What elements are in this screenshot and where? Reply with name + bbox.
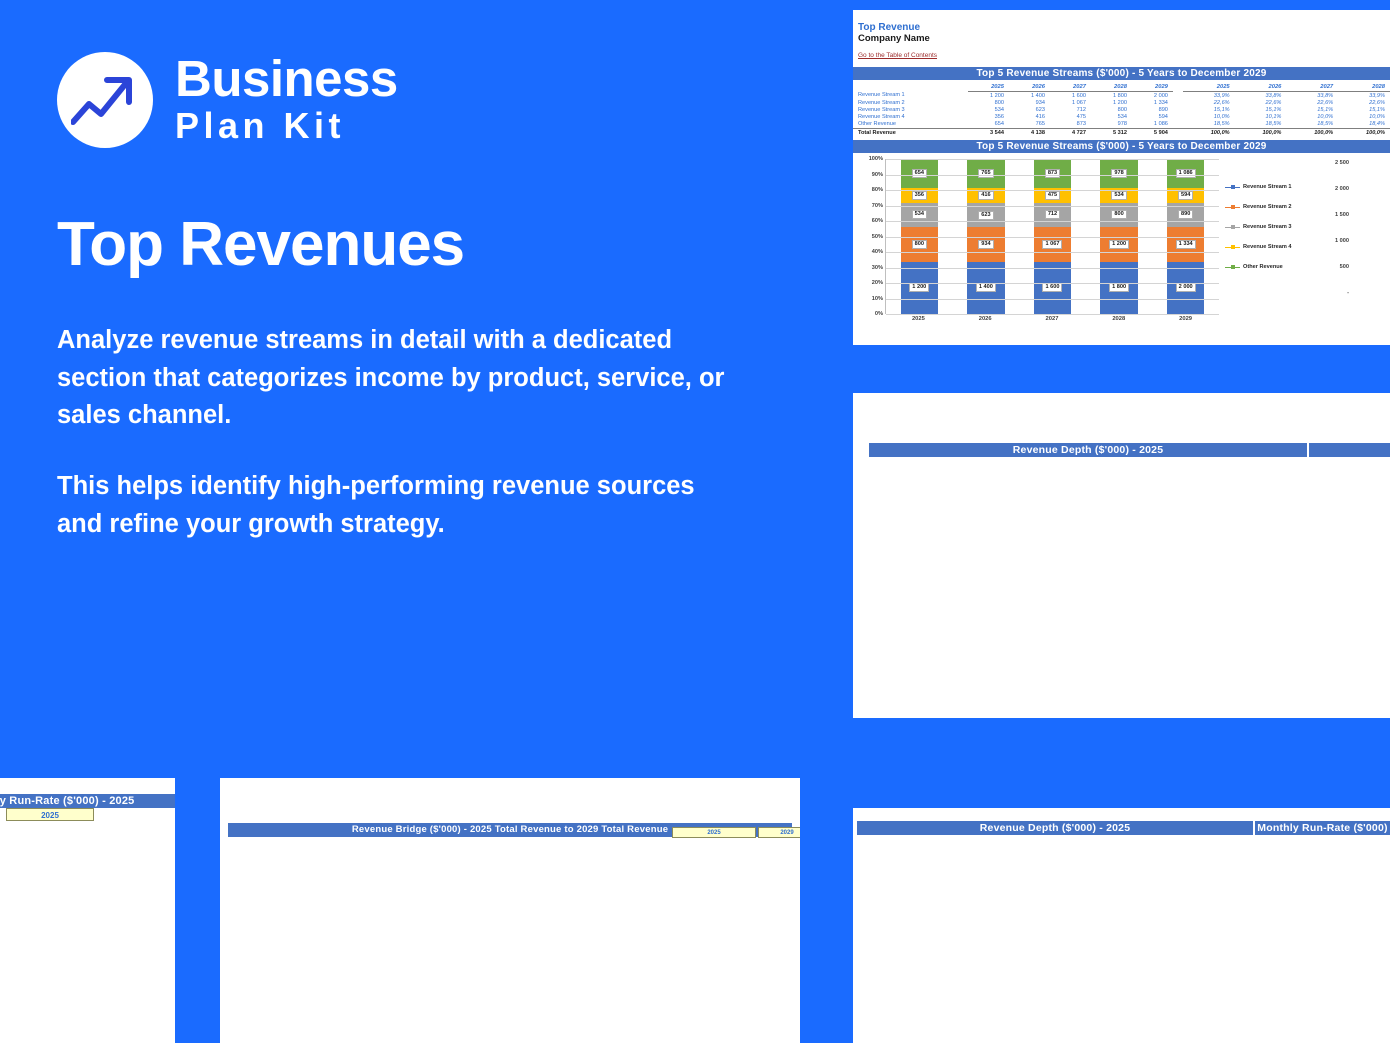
col-year-2026: 2026 <box>1009 83 1050 92</box>
total-value: 3 544 <box>968 128 1009 136</box>
cell-value: 534 <box>1091 114 1132 121</box>
legend-marker-icon <box>1225 184 1240 191</box>
cell-value: 475 <box>1050 114 1091 121</box>
cell-value: 1 200 <box>1091 99 1132 106</box>
total-label: Total Revenue <box>853 128 968 136</box>
gridline <box>886 206 1219 207</box>
bar-segment: 623 <box>967 203 1004 226</box>
promo-paragraph-1: Analyze revenue streams in detail with a… <box>57 322 737 435</box>
gridline <box>886 283 1219 284</box>
cell-pct: 18,5% <box>1286 121 1338 129</box>
growth-arrow-icon <box>57 52 153 148</box>
bar-segment: 1 067 <box>1034 227 1071 262</box>
bar-segment: 934 <box>967 227 1004 262</box>
cell-value: 594 <box>1132 114 1173 121</box>
cell-pct: 15,1% <box>1235 106 1287 113</box>
line-chart-legend: Revenue Stream 1Revenue Stream 2Revenue … <box>1225 177 1292 277</box>
total-pct: 100,0% <box>1338 128 1390 136</box>
cell-value: 1 600 <box>1050 92 1091 100</box>
data-label: 978 <box>1111 169 1126 178</box>
legend-item: Other Revenue <box>1225 257 1292 277</box>
gridline <box>886 159 1219 160</box>
stacked-y-axis: 0%10%20%30%40%50%60%70%80%90%100% <box>855 159 883 314</box>
col-pct-2028: 2028 <box>1338 83 1390 92</box>
bar-segment: 1 600 <box>1034 262 1071 314</box>
gridline <box>886 175 1219 176</box>
gridline <box>886 314 1219 315</box>
x-tick-label: 2027 <box>1019 316 1086 322</box>
cell-value: 890 <box>1132 106 1173 113</box>
cell-pct: 18,4% <box>1338 121 1390 129</box>
x-tick-label: 2026 <box>952 316 1019 322</box>
cell-pct: 18,5% <box>1183 121 1235 129</box>
data-label: 594 <box>1178 191 1193 200</box>
runrate-banner: Monthly Run-Rate ($'000) - 2025 <box>0 794 175 808</box>
chart-banner: Top 5 Revenue Streams ($'000) - 5 Years … <box>853 140 1390 153</box>
y-tick-label: 0% <box>875 311 883 317</box>
cell-value: 1 067 <box>1050 99 1091 106</box>
data-label: 873 <box>1045 169 1060 178</box>
data-label: 1 334 <box>1176 240 1196 249</box>
row-label: Other Revenue <box>853 121 968 129</box>
y-tick-label: 100% <box>869 156 883 162</box>
y-tick-label: 10% <box>872 296 883 302</box>
cell-value: 1 800 <box>1091 92 1132 100</box>
data-label: 1 086 <box>1176 169 1196 178</box>
cell-pct: 22,6% <box>1286 99 1338 106</box>
total-pct: 100,0% <box>1286 128 1338 136</box>
cell-value: 800 <box>1091 106 1132 113</box>
total-value: 4 727 <box>1050 128 1091 136</box>
table-total-row: Total Revenue 3 544 4 138 4 727 5 312 5 … <box>853 128 1390 136</box>
cell-value: 356 <box>968 114 1009 121</box>
cell-pct: 22,6% <box>1235 99 1287 106</box>
bar-segment: 890 <box>1167 203 1204 226</box>
bar-segment: 1 086 <box>1167 159 1204 188</box>
legend-item: Revenue Stream 4 <box>1225 237 1292 257</box>
bar-segment: 654 <box>901 159 938 188</box>
gridline <box>886 237 1219 238</box>
revenue-streams-table: 2025 2026 2027 2028 2029 2025 2026 2027 … <box>853 83 1390 136</box>
data-label: 1 067 <box>1042 240 1062 249</box>
stacked-plot-area: 6543565348001 2007654166239341 400873475… <box>885 159 1219 314</box>
data-label: 416 <box>978 191 993 200</box>
col-year-2027: 2027 <box>1050 83 1091 92</box>
col-year-2025: 2025 <box>968 83 1009 92</box>
legend-marker-icon <box>1225 264 1240 271</box>
legend-label: Revenue Stream 1 <box>1243 184 1292 190</box>
data-label: 1 200 <box>1109 240 1129 249</box>
brand-logo: Business Plan Kit <box>57 52 797 148</box>
y-tick-label: 70% <box>872 203 883 209</box>
col-pct-2026: 2026 <box>1235 83 1287 92</box>
bar-segment: 1 200 <box>901 262 938 314</box>
cell-value: 712 <box>1050 106 1091 113</box>
total-pct: 100,0% <box>1235 128 1287 136</box>
gridline <box>886 252 1219 253</box>
depth-banner-continuation <box>1309 443 1390 457</box>
data-label: 1 200 <box>909 283 929 292</box>
data-label: 475 <box>1045 191 1060 200</box>
cell-pct: 15,1% <box>1183 106 1235 113</box>
cell-pct: 33,9% <box>1338 92 1390 100</box>
sheet-title: Top Revenue <box>858 22 1390 33</box>
bar-segment: 1 334 <box>1167 227 1204 262</box>
legend-item: Revenue Stream 3 <box>1225 217 1292 237</box>
cell-value: 654 <box>968 121 1009 129</box>
cell-pct: 18,5% <box>1235 121 1287 129</box>
bridge-year-from-select[interactable]: 2025 <box>672 827 756 838</box>
legend-item: Revenue Stream 1 <box>1225 177 1292 197</box>
cell-value: 534 <box>968 106 1009 113</box>
data-label: 2 000 <box>1176 283 1196 292</box>
sheet-header: Top Revenue Company Name Go to the Table… <box>853 10 1390 62</box>
data-label: 934 <box>978 240 993 249</box>
bridge-year-to-select[interactable]: 2029 <box>758 827 800 838</box>
runrate-banner-e: Monthly Run-Rate ($'000) <box>1255 821 1390 835</box>
run-rate-pie-chart-e <box>1289 858 1390 1008</box>
table-row: Revenue Stream 1 1 200 1 400 1 600 1 800… <box>853 92 1390 100</box>
y-tick-label: 1 500 <box>1335 212 1349 218</box>
promo-paragraph-2: This helps identify high-performing reve… <box>57 468 737 543</box>
cell-value: 416 <box>1009 114 1050 121</box>
x-tick-label: 2028 <box>1085 316 1152 322</box>
data-label: 534 <box>1111 191 1126 200</box>
bar-segment: 712 <box>1034 203 1071 226</box>
bar-segment: 800 <box>1100 203 1137 226</box>
y-tick-label: 80% <box>872 187 883 193</box>
table-header-row: 2025 2026 2027 2028 2029 2025 2026 2027 … <box>853 83 1390 92</box>
y-tick-label: 50% <box>872 234 883 240</box>
gridline <box>886 190 1219 191</box>
total-value: 5 312 <box>1091 128 1132 136</box>
table-row: Revenue Stream 3 534 623 712 800 890 15,… <box>853 106 1390 113</box>
table-of-contents-link[interactable]: Go to the Table of Contents <box>858 51 937 61</box>
y-tick-label: 2 500 <box>1335 160 1349 166</box>
total-pct: 100,0% <box>1183 128 1235 136</box>
y-tick-label: 90% <box>872 172 883 178</box>
y-tick-label: 2 000 <box>1335 186 1349 192</box>
line-plot-area <box>1351 163 1390 327</box>
cell-value: 1 200 <box>968 92 1009 100</box>
gridline <box>886 221 1219 222</box>
legend-marker-icon <box>1225 204 1240 211</box>
cell-pct: 15,1% <box>1286 106 1338 113</box>
cell-value: 934 <box>1009 99 1050 106</box>
cell-value: 800 <box>968 99 1009 106</box>
depth-banner-e: Revenue Depth ($'000) - 2025 <box>857 821 1253 835</box>
bar-segment: 2 000 <box>1167 262 1204 315</box>
screenshot-panel-revenue-depth: Revenue Depth ($'000) - 2025 <box>853 393 1390 718</box>
row-label: Revenue Stream 4 <box>853 114 968 121</box>
data-label: 1 400 <box>976 283 996 292</box>
line-y-axis: -5001 0001 5002 0002 500 <box>1323 163 1349 327</box>
data-label: 800 <box>912 240 927 249</box>
legend-label: Revenue Stream 3 <box>1243 224 1292 230</box>
data-label: 1 600 <box>1042 283 1062 292</box>
legend-marker-icon <box>1225 244 1240 251</box>
bar-segment: 873 <box>1034 159 1071 188</box>
data-label: 534 <box>912 210 927 219</box>
screenshot-panel-depth-and-pie: Revenue Depth ($'000) - 2025 Monthly Run… <box>853 808 1390 1043</box>
stacked-x-axis: 20252026202720282029 <box>885 316 1219 322</box>
y-tick-label: 30% <box>872 265 883 271</box>
row-label: Revenue Stream 3 <box>853 106 968 113</box>
bar-segment: 1 400 <box>967 262 1004 314</box>
y-tick-label: 40% <box>872 249 883 255</box>
row-label: Revenue Stream 2 <box>853 99 968 106</box>
cell-pct: 33,9% <box>1183 92 1235 100</box>
cell-value: 765 <box>1009 121 1050 129</box>
legend-label: Other Revenue <box>1243 264 1283 270</box>
page-title: Top Revenues <box>57 214 797 276</box>
legend-item: Revenue Stream 2 <box>1225 197 1292 217</box>
data-label: 800 <box>1111 210 1126 219</box>
data-label: 712 <box>1045 210 1060 219</box>
screenshot-panel-run-rate-pie: Monthly Run-Rate ($'000) - 2025 2025 <box>0 778 175 1043</box>
row-label: Revenue Stream 1 <box>853 92 968 100</box>
cell-pct: 22,6% <box>1338 99 1390 106</box>
bar-segment: 765 <box>967 159 1004 188</box>
cell-value: 2 000 <box>1132 92 1173 100</box>
col-year-2028: 2028 <box>1091 83 1132 92</box>
cell-pct: 15,1% <box>1338 106 1390 113</box>
bar-segment: 534 <box>901 203 938 226</box>
line-chart: Revenue Stream 1Revenue Stream 2Revenue … <box>1223 155 1390 345</box>
table-banner: Top 5 Revenue Streams ($'000) - 5 Years … <box>853 67 1390 80</box>
cell-pct: 10,1% <box>1235 114 1287 121</box>
bar-segment: 800 <box>901 227 938 262</box>
cell-value: 1 086 <box>1132 121 1173 129</box>
legend-label: Revenue Stream 2 <box>1243 204 1292 210</box>
y-tick-label: 20% <box>872 280 883 286</box>
data-label: 623 <box>978 211 993 220</box>
data-label: 1 800 <box>1109 283 1129 292</box>
y-tick-label: - <box>1347 290 1349 296</box>
screenshot-panel-top-revenue-sheet: Top Revenue Company Name Go to the Table… <box>853 10 1390 345</box>
x-tick-label: 2029 <box>1152 316 1219 322</box>
cell-value: 1 400 <box>1009 92 1050 100</box>
x-tick-label: 2025 <box>885 316 952 322</box>
legend-marker-icon <box>1225 224 1240 231</box>
data-label: 654 <box>912 169 927 178</box>
brand-name-line1: Business <box>175 53 398 105</box>
bar-segment: 1 800 <box>1100 262 1137 315</box>
year-select-2025[interactable]: 2025 <box>6 808 94 821</box>
cell-pct: 33,8% <box>1235 92 1287 100</box>
y-tick-label: 1 000 <box>1335 238 1349 244</box>
data-label: 765 <box>978 169 993 178</box>
cell-pct: 33,8% <box>1286 92 1338 100</box>
gridline <box>886 299 1219 300</box>
y-tick-label: 60% <box>872 218 883 224</box>
cell-pct: 10,0% <box>1183 114 1235 121</box>
data-label: 356 <box>912 191 927 200</box>
table-row: Revenue Stream 4 356 416 475 534 594 10,… <box>853 114 1390 121</box>
cell-value: 1 334 <box>1132 99 1173 106</box>
cell-value: 623 <box>1009 106 1050 113</box>
y-tick-label: 500 <box>1340 264 1349 270</box>
stacked-bar-chart: 0%10%20%30%40%50%60%70%80%90%100% 654356… <box>853 155 1223 345</box>
cell-value: 978 <box>1091 121 1132 129</box>
cell-pct: 10,0% <box>1286 114 1338 121</box>
total-value: 5 904 <box>1132 128 1173 136</box>
total-value: 4 138 <box>1009 128 1050 136</box>
company-name: Company Name <box>858 33 1390 44</box>
cell-pct: 10,0% <box>1338 114 1390 121</box>
promo-block: Business Plan Kit Top Revenues Analyze r… <box>57 52 797 544</box>
legend-label: Revenue Stream 4 <box>1243 244 1292 250</box>
brand-name-line2: Plan Kit <box>175 105 398 146</box>
table-row: Revenue Stream 2 800 934 1 067 1 200 1 3… <box>853 99 1390 106</box>
col-pct-2025: 2025 <box>1183 83 1235 92</box>
cell-pct: 22,6% <box>1183 99 1235 106</box>
screenshot-panel-revenue-bridge: Revenue Bridge ($'000) - 2025 Total Reve… <box>220 778 800 1043</box>
bar-segment: 1 200 <box>1100 227 1137 262</box>
gridline <box>886 268 1219 269</box>
col-year-2029: 2029 <box>1132 83 1173 92</box>
cell-value: 873 <box>1050 121 1091 129</box>
col-pct-2027: 2027 <box>1286 83 1338 92</box>
depth-banner: Revenue Depth ($'000) - 2025 <box>869 443 1307 457</box>
table-row: Other Revenue 654 765 873 978 1 086 18,5… <box>853 121 1390 129</box>
data-label: 890 <box>1178 210 1193 219</box>
bar-segment: 978 <box>1100 159 1137 188</box>
